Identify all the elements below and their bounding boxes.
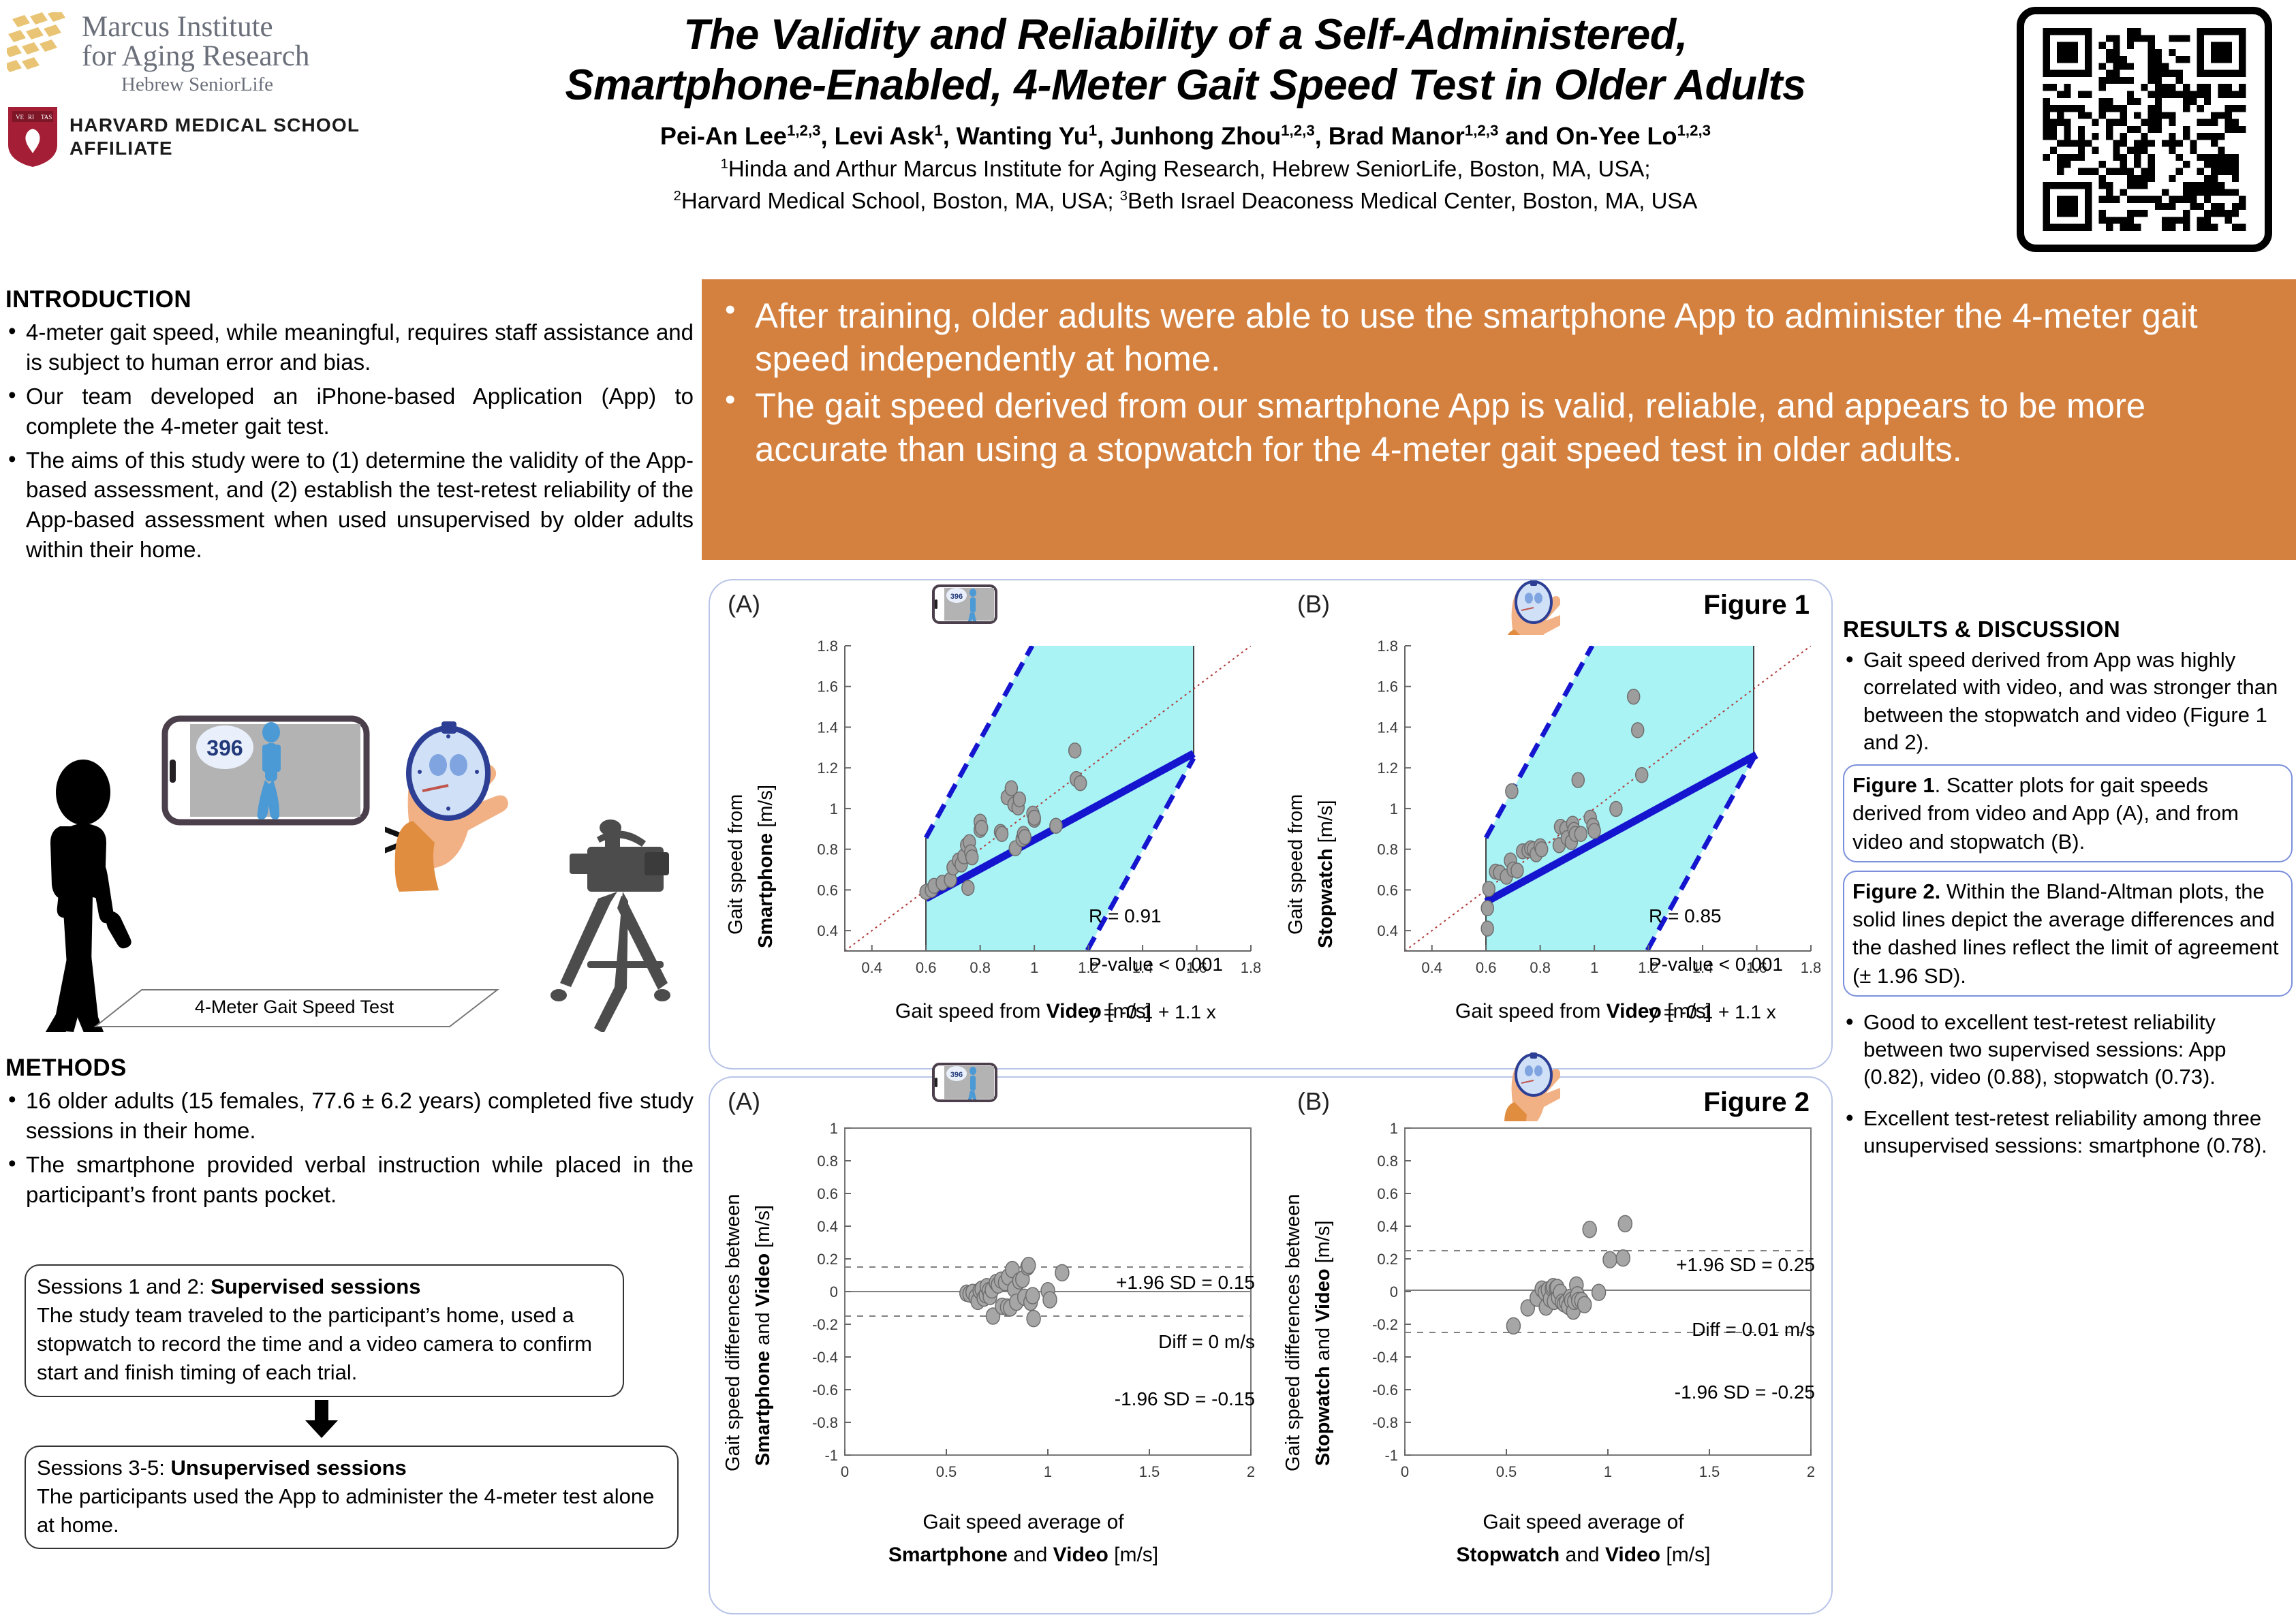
unsupervised-sessions-box: Sessions 3-5: Unsupervised sessions The …: [25, 1446, 679, 1549]
svg-text:-0.2: -0.2: [1372, 1316, 1398, 1333]
svg-text:0: 0: [1390, 1283, 1398, 1300]
marcus-logo-line2: for Aging Research: [82, 42, 309, 71]
svg-text:1: 1: [1390, 1120, 1398, 1137]
svg-text:0.6: 0.6: [916, 959, 937, 976]
list-item: The aims of this study were to (1) deter…: [5, 446, 694, 565]
figure2-a-lower-loa-label: -1.96 SD = -0.15: [1051, 1387, 1255, 1411]
svg-text:1.8: 1.8: [1801, 959, 1820, 976]
svg-text:0.4: 0.4: [1377, 1218, 1398, 1235]
list-item: 16 older adults (15 females, 77.6 ± 6.2 …: [5, 1086, 694, 1146]
svg-text:-0.8: -0.8: [1372, 1414, 1398, 1431]
svg-text:0.8: 0.8: [1377, 841, 1398, 858]
svg-text:0.4: 0.4: [817, 1218, 838, 1235]
figure1-a-pvalue: P-value < 0.001: [1089, 952, 1223, 976]
list-item: The gait speed derived from our smartpho…: [719, 384, 2276, 470]
figure2-panel-b-letter: (B): [1297, 1087, 1330, 1116]
svg-text:-0.2: -0.2: [812, 1316, 838, 1333]
figure2-a-stats: +1.96 SD = 0.15 Diff = 0 m/s -1.96 SD = …: [1051, 1247, 1255, 1435]
unsupervised-sessions-title: Sessions 3-5: Unsupervised sessions: [37, 1454, 666, 1482]
results-discussion-section: RESULTS & DISCUSSION Gait speed derived …: [1843, 616, 2293, 1164]
marcus-logo-line3: Hebrew SeniorLife: [121, 75, 309, 95]
svg-text:1.4: 1.4: [817, 719, 838, 736]
supervised-sessions-title: Sessions 1 and 2: Supervised sessions: [37, 1272, 612, 1301]
affiliation-1: 1Hinda and Arthur Marcus Institute for A…: [382, 154, 1989, 184]
marcus-institute-logo: Marcus Institute for Aging Research Hebr…: [7, 12, 388, 95]
svg-text:0.6: 0.6: [817, 881, 838, 899]
svg-text:1.5: 1.5: [1139, 1463, 1160, 1480]
svg-text:0.6: 0.6: [1377, 881, 1398, 899]
results-heading: RESULTS & DISCUSSION: [1843, 616, 2293, 642]
unsupervised-sessions-body: The participants used the App to adminis…: [37, 1482, 666, 1540]
qr-code[interactable]: [2017, 7, 2272, 252]
svg-text:1.6: 1.6: [1377, 678, 1398, 696]
figure2-a-ylabel: Gait speed differences between: [722, 1194, 745, 1471]
svg-text:0.4: 0.4: [1377, 922, 1398, 939]
svg-text:0.8: 0.8: [817, 841, 838, 858]
svg-text:0.6: 0.6: [817, 1185, 838, 1202]
results-bullets-bottom: Good to excellent test-retest reliabilit…: [1843, 1009, 2293, 1159]
svg-text:396: 396: [950, 1071, 963, 1079]
figure2-b-lower-loa-label: -1.96 SD = -0.25: [1611, 1380, 1815, 1404]
svg-text:1.8: 1.8: [817, 639, 838, 655]
introduction-heading: INTRODUCTION: [5, 286, 694, 313]
svg-text:0.8: 0.8: [969, 959, 991, 976]
key-findings-list: After training, older adults were able t…: [719, 294, 2276, 471]
svg-text:1: 1: [1030, 959, 1038, 976]
marcus-logo-line1: Marcus Institute: [82, 12, 309, 42]
figure2-b-xlabel-line1: Gait speed average of: [1311, 1511, 1856, 1534]
figure2-a-xlabel-line2: Smartphone and Video [m/s]: [751, 1544, 1296, 1567]
figure1-panel-b-letter: (B): [1297, 590, 1330, 619]
svg-text:396: 396: [950, 593, 963, 601]
svg-text:0.6: 0.6: [1377, 1185, 1398, 1202]
title-line-2: Smartphone-Enabled, 4-Meter Gait Speed T…: [382, 60, 1989, 110]
svg-text:-0.4: -0.4: [812, 1349, 838, 1366]
svg-text:TAS: TAS: [41, 114, 52, 121]
institution-logos: Marcus Institute for Aging Research Hebr…: [7, 12, 388, 168]
list-item: 4-meter gait speed, while meaningful, re…: [5, 317, 694, 377]
harvard-logo-line1: HARVARD MEDICAL SCHOOL: [69, 114, 360, 137]
stopwatch-hand-icon: [1499, 580, 1560, 635]
gait-test-illustration: 396 >: [0, 691, 702, 1032]
figure2-a-diff-label: Diff = 0 m/s: [1051, 1330, 1255, 1354]
figure-1-caption-label: Figure 1: [1852, 773, 1935, 797]
marcus-diamond-mark: [7, 12, 72, 86]
list-item: Excellent test-retest reliability among …: [1843, 1105, 2293, 1160]
figure2-panel-a-letter: (A): [728, 1087, 760, 1116]
figure2-title: Figure 2: [1703, 1087, 1810, 1118]
figure2-b-diff-label: Diff = 0.01 m/s: [1611, 1317, 1815, 1341]
results-bullets-top: Gait speed derived from App was highly c…: [1843, 646, 2293, 756]
figure1-b-ylabel-bold: Stopwatch [m/s]: [1315, 800, 1337, 948]
svg-text:0.8: 0.8: [817, 1153, 838, 1170]
figure2-b-ylabel-bold: Stopwatch and Video [m/s]: [1312, 1221, 1335, 1466]
figure1-b-r: R = 0.85: [1649, 904, 1783, 928]
floor-path-label: 4-Meter Gait Speed Test: [195, 997, 394, 1017]
phone-screen-count: 396: [206, 736, 243, 760]
figure1-a-ylabel: Gait speed from: [725, 794, 747, 935]
stopwatch-hand-icon: [1499, 1040, 1560, 1121]
figure2-a-xlabel-line1: Gait speed average of: [751, 1511, 1296, 1534]
figure1-a-ylabel-bold: Smartphone [m/s]: [755, 785, 777, 948]
harvard-logo-line2: AFFILIATE: [69, 137, 360, 160]
svg-text:1.5: 1.5: [1699, 1463, 1720, 1480]
svg-text:0.5: 0.5: [936, 1463, 957, 1480]
figure1-panel-a-letter: (A): [728, 590, 760, 619]
title-line-1: The Validity and Reliability of a Self-A…: [382, 10, 1989, 60]
svg-text:0.4: 0.4: [817, 922, 838, 939]
figure-2-caption-label: Figure 2.: [1852, 879, 1940, 903]
svg-text:0.4: 0.4: [861, 959, 882, 976]
svg-text:0: 0: [1401, 1463, 1409, 1480]
figure-2-card: (A) (B) Figure 2 396 Gait speed differen…: [709, 1076, 1833, 1614]
figure2-b-stats: +1.96 SD = 0.25 Diff = 0.01 m/s -1.96 SD…: [1611, 1229, 1815, 1428]
smartphone-icon: 396: [929, 583, 1000, 627]
svg-text:1.2: 1.2: [1377, 760, 1398, 777]
video-camera-icon: [550, 819, 670, 1032]
figure-1-card: (A) (B) Figure 1 396 Gait speed from Sma…: [709, 579, 1833, 1069]
figure1-a-r: R = 0.91: [1089, 904, 1223, 928]
svg-text:0.8: 0.8: [1377, 1153, 1398, 1170]
figure-1-caption-box: Figure 1. Scatter plots for gait speeds …: [1843, 764, 2293, 862]
figure1-title: Figure 1: [1703, 590, 1810, 621]
key-findings-banner: After training, older adults were able t…: [702, 279, 2296, 560]
methods-section: METHODS 16 older adults (15 females, 77.…: [5, 1055, 694, 1214]
svg-text:0.8: 0.8: [1530, 959, 1551, 976]
svg-text:1: 1: [830, 1120, 838, 1137]
introduction-bullets: 4-meter gait speed, while meaningful, re…: [5, 317, 694, 565]
methods-heading: METHODS: [5, 1055, 694, 1082]
svg-text:1.2: 1.2: [817, 760, 838, 777]
list-item: Our team developed an iPhone-based Appli…: [5, 381, 694, 441]
figure2-a-ylabel-bold: Smartphone and Video [m/s]: [752, 1205, 775, 1466]
supervised-sessions-box: Sessions 1 and 2: Supervised sessions Th…: [25, 1264, 624, 1397]
svg-text:2: 2: [1247, 1463, 1255, 1480]
list-item: Good to excellent test-retest reliabilit…: [1843, 1009, 2293, 1091]
figure2-b-upper-loa-label: +1.96 SD = 0.25: [1611, 1253, 1815, 1277]
poster-header: The Validity and Reliability of a Self-A…: [382, 10, 1989, 216]
svg-text:1: 1: [1390, 800, 1398, 817]
svg-text:1.8: 1.8: [1377, 639, 1398, 655]
stopwatch-hand-illustration: [395, 721, 508, 892]
svg-text:0: 0: [830, 1283, 838, 1300]
svg-text:1: 1: [830, 800, 838, 817]
svg-text:0.6: 0.6: [1476, 959, 1497, 976]
author-list: Pei-An Lee1,2,3, Levi Ask1, Wanting Yu1,…: [382, 121, 1989, 153]
harvard-shield-icon: VERITAS: [7, 106, 59, 168]
affiliation-2: 2Harvard Medical School, Boston, MA, USA…: [382, 186, 1989, 216]
figure1-b-xlabel: Gait speed from Video [m/s]: [1311, 1000, 1856, 1023]
svg-text:1.8: 1.8: [1241, 959, 1260, 976]
page-title: The Validity and Reliability of a Self-A…: [382, 10, 1989, 111]
figure1-b-pvalue: P-value < 0.001: [1649, 952, 1783, 976]
svg-text:0.5: 0.5: [1496, 1463, 1517, 1480]
svg-text:RI: RI: [28, 114, 34, 121]
methods-bullets: 16 older adults (15 females, 77.6 ± 6.2 …: [5, 1086, 694, 1210]
svg-text:2: 2: [1807, 1463, 1815, 1480]
svg-text:0: 0: [841, 1463, 849, 1480]
list-item: The smartphone provided verbal instructi…: [5, 1150, 694, 1210]
figure2-b-ylabel: Gait speed differences between: [1282, 1194, 1305, 1471]
walking-person-icon: [26, 760, 131, 1032]
svg-text:-0.8: -0.8: [812, 1414, 838, 1431]
figure1-b-ylabel: Gait speed from: [1285, 794, 1307, 935]
list-item: Gait speed derived from App was highly c…: [1843, 646, 2293, 756]
harvard-medical-school-logo: VERITAS HARVARD MEDICAL SCHOOL AFFILIATE: [7, 106, 388, 168]
supervised-sessions-body: The study team traveled to the participa…: [37, 1301, 612, 1387]
smartphone-illustration: 396: [165, 719, 367, 822]
figure1-a-xlabel: Gait speed from Video [m/s]: [751, 1000, 1296, 1023]
svg-text:-0.4: -0.4: [1372, 1349, 1398, 1366]
svg-text:0.4: 0.4: [1421, 959, 1442, 976]
svg-text:1: 1: [1590, 959, 1598, 976]
svg-text:-0.6: -0.6: [812, 1381, 838, 1399]
svg-text:-1: -1: [1384, 1447, 1398, 1464]
smartphone-icon: 396: [929, 1045, 1000, 1121]
svg-text:1.6: 1.6: [817, 678, 838, 696]
qr-code-icon: [2038, 28, 2251, 231]
figure2-b-xlabel-line2: Stopwatch and Video [m/s]: [1311, 1544, 1856, 1567]
figure-2-caption-box: Figure 2. Within the Bland-Altman plots,…: [1843, 871, 2293, 997]
svg-text:1: 1: [1604, 1463, 1612, 1480]
svg-text:-1: -1: [824, 1447, 838, 1464]
introduction-section: INTRODUCTION 4-meter gait speed, while m…: [5, 286, 694, 569]
svg-text:1: 1: [1044, 1463, 1052, 1480]
svg-text:0.2: 0.2: [1377, 1251, 1398, 1268]
svg-text:-0.6: -0.6: [1372, 1381, 1398, 1399]
svg-text:0.2: 0.2: [817, 1251, 838, 1268]
svg-text:VE: VE: [16, 114, 24, 121]
flow-arrow-down-icon: [300, 1400, 343, 1438]
figure2-a-upper-loa-label: +1.96 SD = 0.15: [1051, 1270, 1255, 1294]
list-item: After training, older adults were able t…: [719, 294, 2276, 380]
svg-text:1.4: 1.4: [1377, 719, 1398, 736]
